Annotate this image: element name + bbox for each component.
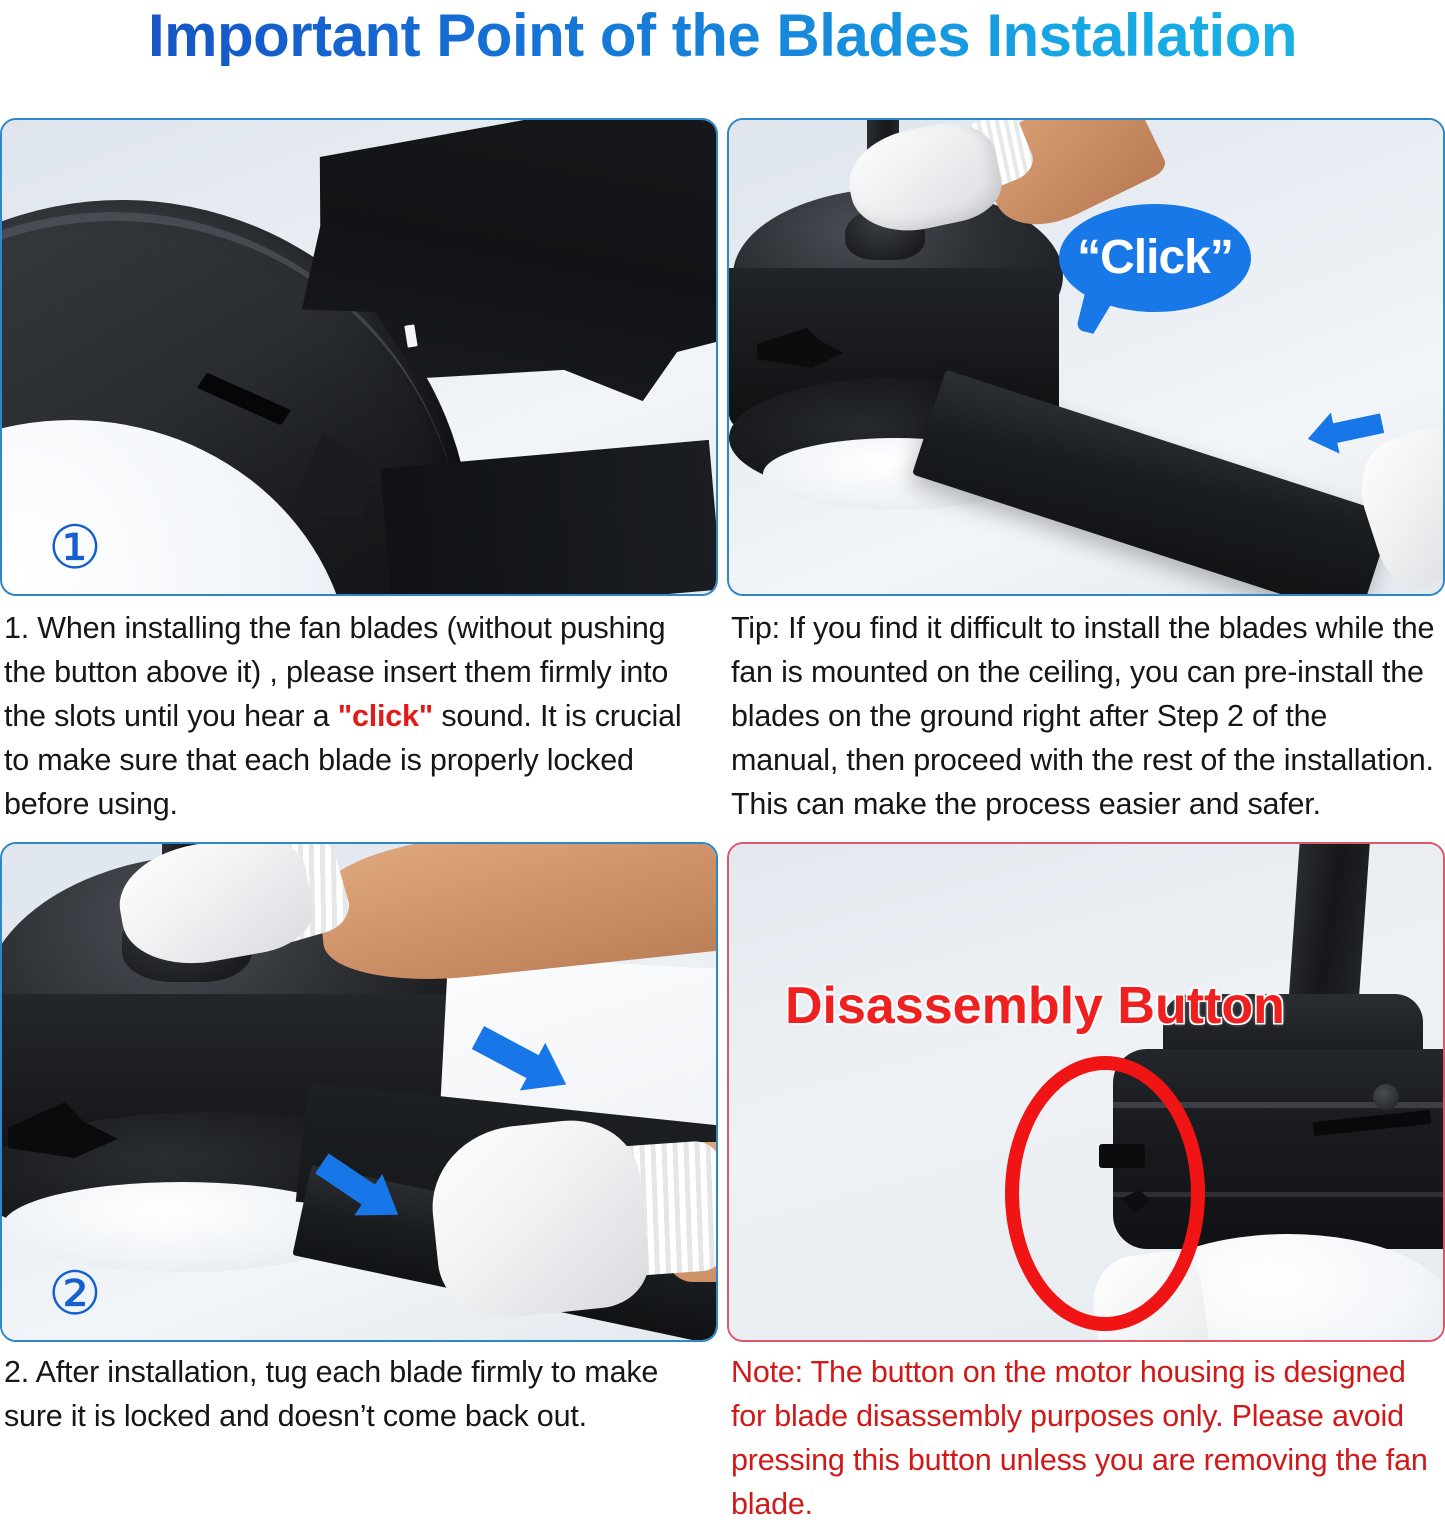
housing-screw-shape: [1373, 1084, 1399, 1110]
caption-row-bottom: 2. After installation, tug each blade fi…: [0, 1350, 1445, 1526]
page-title: Important Point of the Blades Installati…: [148, 6, 1297, 66]
panel-cell-top-left: ①: [0, 118, 718, 596]
caption-step2: 2. After installation, tug each blade fi…: [0, 1350, 718, 1438]
photo-tug-blade-check: ②: [0, 842, 718, 1342]
photo-row-bottom: ② Disassembly Button: [0, 842, 1445, 1342]
step-badge-2: ②: [48, 1264, 102, 1324]
photo-disassembly-button-detail: Disassembly Button: [727, 842, 1445, 1342]
caption-cell-step1: 1. When installing the fan blades (witho…: [0, 606, 718, 826]
caption-cell-step2: 2. After installation, tug each blade fi…: [0, 1350, 718, 1526]
panel-cell-bottom-right: Disassembly Button: [727, 842, 1445, 1342]
caption-cell-tip: Tip: If you find it difficult to install…: [727, 606, 1445, 826]
caption-row-top: 1. When installing the fan blades (witho…: [0, 606, 1445, 826]
caption-step1: 1. When installing the fan blades (witho…: [0, 606, 718, 826]
caption-step1-click-word: "click": [338, 699, 433, 733]
click-speech-bubble: “Click”: [1059, 204, 1251, 312]
panel-cell-bottom-left: ②: [0, 842, 718, 1342]
step-badge-1: ①: [48, 518, 102, 578]
photo-blade-click-lock: “Click”: [727, 118, 1445, 596]
disassembly-button-label: Disassembly Button: [785, 979, 1285, 1033]
page-title-bar: Important Point of the Blades Installati…: [0, 0, 1445, 72]
highlight-circle-icon: [1005, 1056, 1205, 1331]
caption-note: Note: The button on the motor housing is…: [727, 1350, 1445, 1526]
panel-cell-top-right: “Click”: [727, 118, 1445, 596]
table-edge-shape: [380, 440, 718, 596]
click-bubble-label: “Click”: [1077, 234, 1233, 282]
photo-row-top: ① “Click”: [0, 118, 1445, 596]
caption-tip: Tip: If you find it difficult to install…: [727, 606, 1445, 826]
instruction-grid: ① “Click”: [0, 118, 1445, 1526]
caption-cell-note: Note: The button on the motor housing is…: [727, 1350, 1445, 1526]
photo-blade-insert-closeup: ①: [0, 118, 718, 596]
